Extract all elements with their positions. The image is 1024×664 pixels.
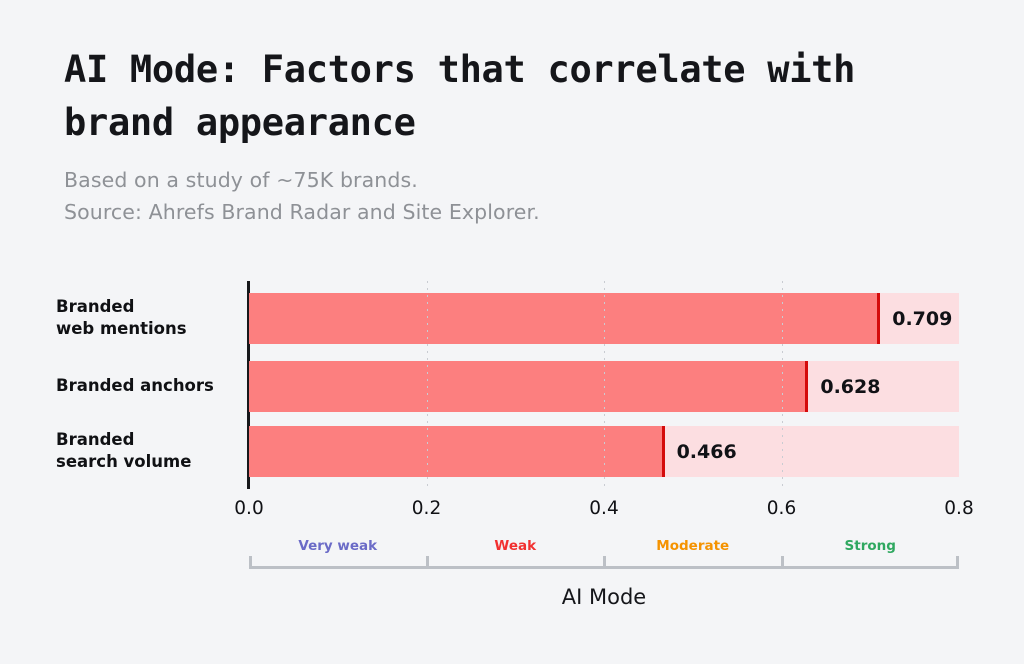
x-tick-label-0.0: 0.0 [234,498,263,519]
band-label-very-weak: Very weak [298,538,377,554]
band-label-moderate: Moderate [656,538,729,554]
bar-value-branded-web-mentions: 0.709 [892,308,952,330]
gridline-0.4 [604,281,605,489]
category-label-branded-web-mentions: Branded web mentions [56,296,236,340]
bar-cap-branded-anchors [805,361,808,412]
x-tick-label-0.2: 0.2 [412,498,441,519]
bar-value-branded-search-volume: 0.466 [677,441,737,463]
category-label-branded-anchors: Branded anchors [56,375,236,397]
bar-fill-branded-web-mentions [249,293,878,344]
bar-chart-plot: Branded web mentions Branded anchors Bra… [0,0,1024,664]
band-label-strong: Strong [845,538,896,554]
x-tick-label-0.8: 0.8 [944,498,973,519]
x-tick-label-0.4: 0.4 [589,498,618,519]
bar-fill-branded-anchors [249,361,806,412]
category-label-branded-search-volume: Branded search volume [56,429,236,473]
bar-value-branded-anchors: 0.628 [820,376,880,398]
bar-fill-branded-search-volume [249,426,663,477]
gridline-0.2 [427,281,428,489]
bar-cap-branded-search-volume [662,426,665,477]
strength-band-rule [249,566,959,569]
x-axis-title: AI Mode [249,585,959,609]
bar-cap-branded-web-mentions [877,293,880,344]
x-tick-label-0.6: 0.6 [767,498,796,519]
gridline-0.6 [782,281,783,489]
band-label-weak: Weak [494,538,536,554]
